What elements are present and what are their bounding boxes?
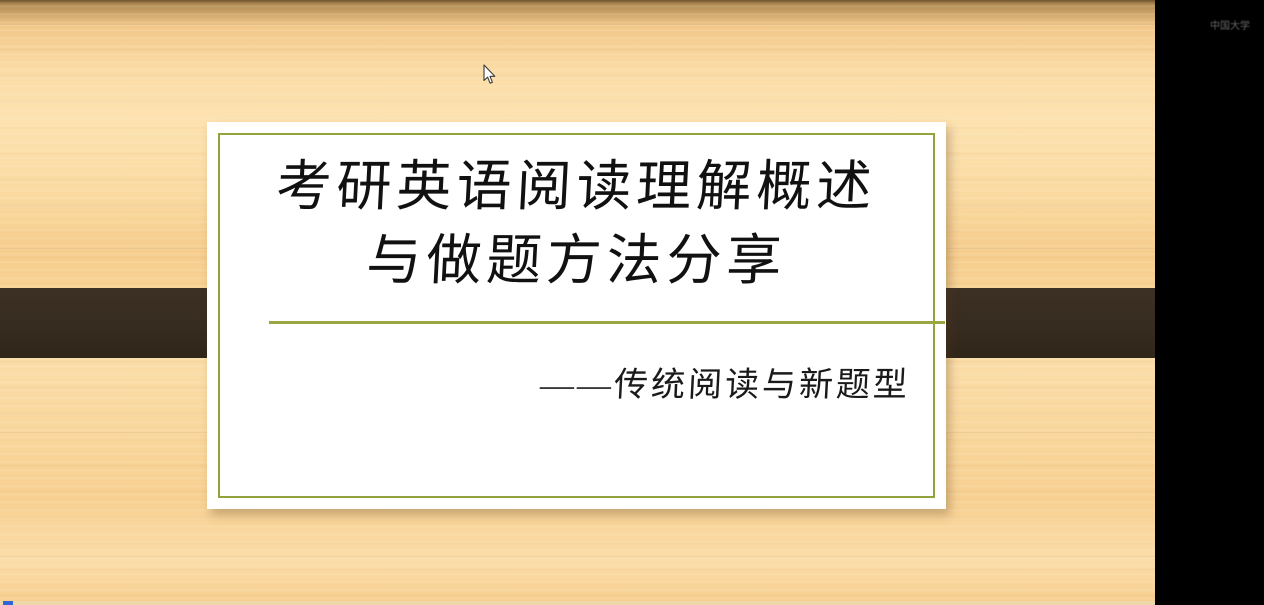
- video-player-screen: 考研英语阅读理解概述 与做题方法分享 ——传统阅读与新题型 中国大学: [0, 0, 1264, 605]
- player-progress-track[interactable]: [0, 601, 1155, 605]
- player-progress-fill[interactable]: [3, 601, 13, 605]
- wood-plank-edge: [0, 24, 1155, 26]
- wood-plank-edge: [0, 556, 1155, 558]
- title-divider: [269, 321, 945, 324]
- slide-title-line-2: 与做题方法分享: [229, 224, 924, 298]
- slide-card: 考研英语阅读理解概述 与做题方法分享 ——传统阅读与新题型: [207, 122, 946, 509]
- slide-content: 考研英语阅读理解概述 与做题方法分享 ——传统阅读与新题型: [207, 122, 946, 509]
- slide-title-line-1: 考研英语阅读理解概述: [229, 150, 924, 224]
- letterbox-right: [1155, 0, 1264, 605]
- watermark-label: 中国大学: [1208, 19, 1252, 34]
- slide-subtitle: ——传统阅读与新题型: [230, 364, 911, 408]
- slide-title: 考研英语阅读理解概述 与做题方法分享: [231, 150, 922, 298]
